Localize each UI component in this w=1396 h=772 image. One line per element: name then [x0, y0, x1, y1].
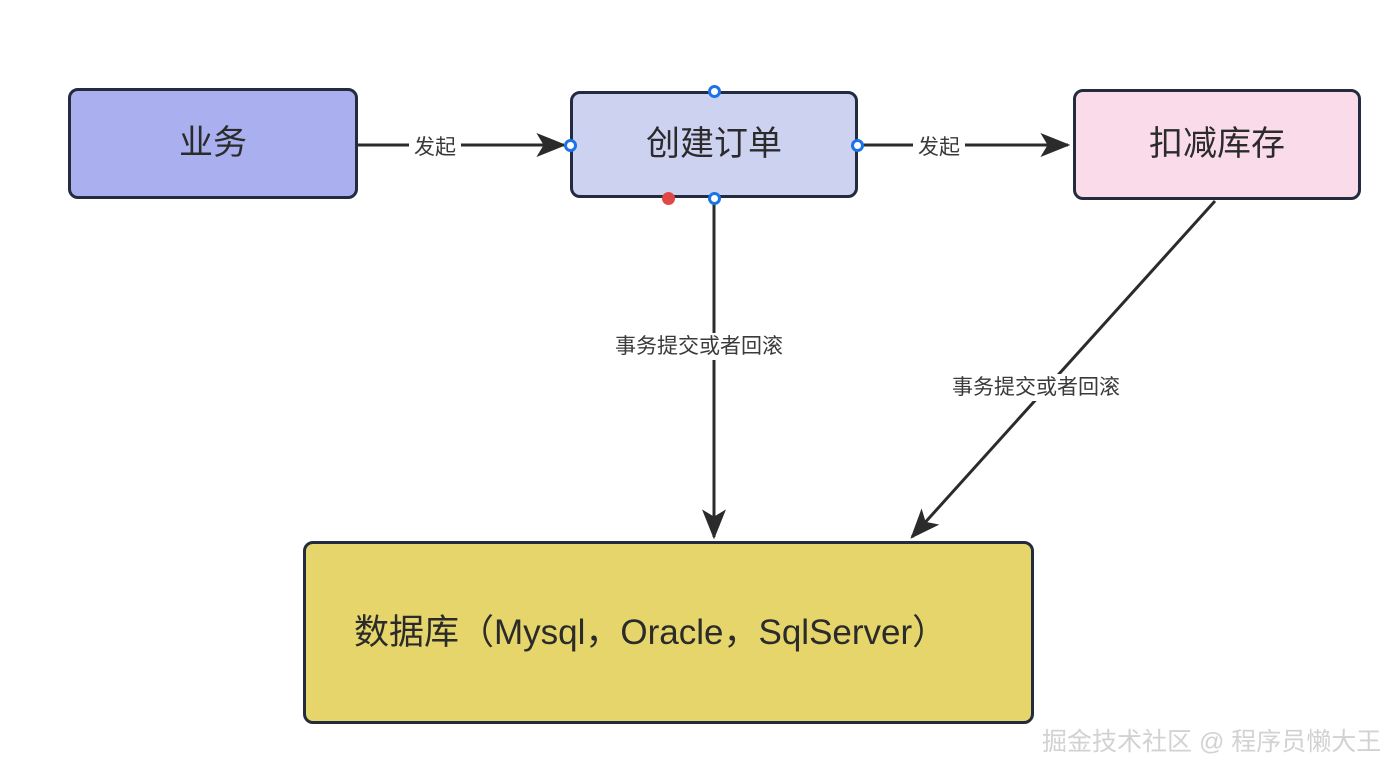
- edge-label-deduct-stock-to-database: 事务提交或者回滚: [947, 374, 1125, 401]
- node-deduct-stock-label: 扣减库存: [1076, 124, 1358, 165]
- anchor-handle-left[interactable]: [564, 139, 577, 152]
- anchor-handle-bottom[interactable]: [708, 192, 721, 205]
- edge-label-business-to-create-order: 发起: [409, 134, 461, 161]
- node-database[interactable]: 数据库（Mysql，Oracle，SqlServer）: [303, 541, 1034, 724]
- anchor-handle-top[interactable]: [708, 85, 721, 98]
- red-dot-marker[interactable]: [662, 192, 675, 205]
- diagram-canvas[interactable]: 业务 创建订单 扣减库存 数据库（Mysql，Oracle，SqlServer）…: [0, 0, 1396, 772]
- node-business-label: 业务: [71, 123, 355, 164]
- edge-label-create-order-to-database: 事务提交或者回滚: [610, 333, 788, 360]
- node-create-order[interactable]: 创建订单: [570, 91, 858, 198]
- edge-deduct-stock-to-database[interactable]: [912, 201, 1215, 537]
- node-business[interactable]: 业务: [68, 88, 358, 199]
- edge-label-create-order-to-deduct-stock: 发起: [913, 134, 965, 161]
- node-deduct-stock[interactable]: 扣减库存: [1073, 89, 1361, 200]
- node-create-order-label: 创建订单: [573, 124, 855, 165]
- anchor-handle-right[interactable]: [851, 139, 864, 152]
- watermark: 掘金技术社区 @ 程序员懒大王: [1042, 722, 1381, 758]
- node-database-label: 数据库（Mysql，Oracle，SqlServer）: [306, 612, 1031, 654]
